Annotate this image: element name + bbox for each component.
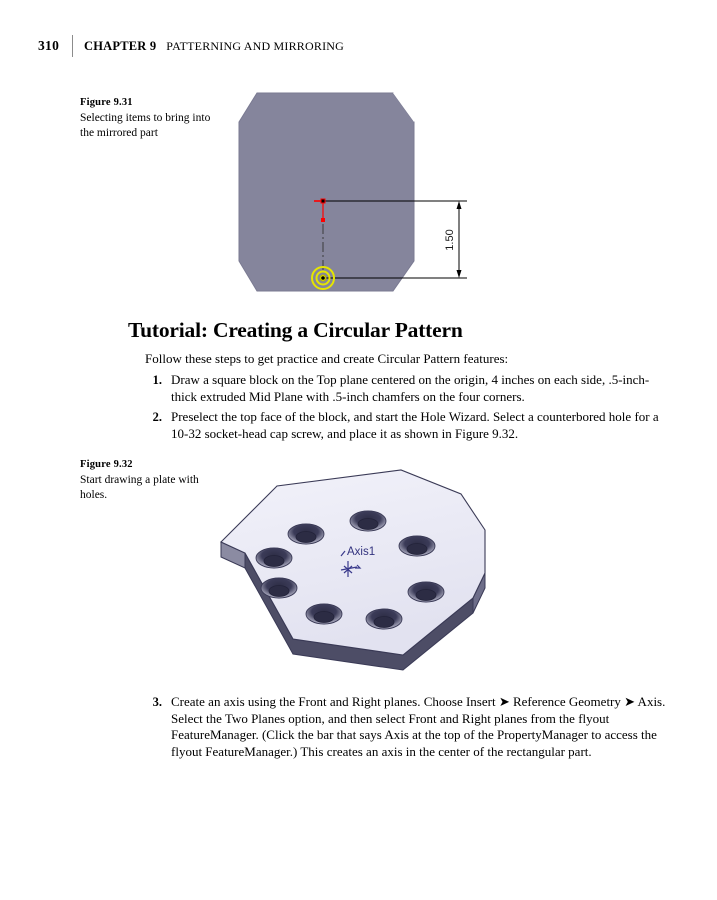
step-number-1: 1. xyxy=(145,372,171,405)
figure-9-32-label: Figure 9.32 xyxy=(80,458,212,472)
dimension-arrow-bottom xyxy=(457,270,462,278)
figure-9-31-image: 1.50 xyxy=(215,88,477,303)
step-number-2: 2. xyxy=(145,409,171,442)
figure-9-31-label: Figure 9.31 xyxy=(80,96,212,110)
chapter-title: PATTERNING AND MIRRORING xyxy=(166,39,344,54)
page-title: Tutorial: Creating a Circular Pattern xyxy=(128,318,463,343)
counterbored-hole-7 xyxy=(261,578,297,598)
figure-9-32-caption-text: Start drawing a plate with holes. xyxy=(80,473,212,502)
axis-label: Axis1 xyxy=(347,546,375,558)
running-head: 310 CHAPTER 9 PATTERNING AND MIRRORING xyxy=(38,38,344,60)
origin-point xyxy=(321,276,325,280)
figure-9-32-caption: Figure 9.32 Start drawing a plate with h… xyxy=(80,458,212,502)
sketch-endpoint-black xyxy=(322,200,325,203)
step-number-3: 3. xyxy=(145,694,171,760)
chapter-number: CHAPTER 9 xyxy=(84,39,156,54)
step-text-1: Draw a square block on the Top plane cen… xyxy=(171,372,672,405)
step-item-3: 3. Create an axis using the Front and Ri… xyxy=(145,694,672,760)
counterbored-hole-5 xyxy=(366,609,402,629)
dimension-arrow-top xyxy=(457,201,462,209)
header-divider xyxy=(72,35,73,57)
block-top-view-shape xyxy=(239,93,414,291)
counterbored-hole-8 xyxy=(256,548,292,568)
figure-9-32-image: Axis1 xyxy=(205,458,495,673)
figure-9-31-caption-text: Selecting items to bring into the mirror… xyxy=(80,111,212,140)
page-number: 310 xyxy=(38,38,72,54)
counterbored-hole-6 xyxy=(306,604,342,624)
counterbored-hole-3 xyxy=(399,536,435,556)
step-item-2: 2. Preselect the top face of the block, … xyxy=(145,409,672,442)
step-item-1: 1. Draw a square block on the Top plane … xyxy=(145,372,672,405)
step-text-2: Preselect the top face of the block, and… xyxy=(171,409,672,442)
counterbored-hole-2 xyxy=(350,511,386,531)
intro-paragraph: Follow these steps to get practice and c… xyxy=(145,351,665,367)
dimension-value: 1.50 xyxy=(444,229,456,250)
counterbored-hole-1 xyxy=(288,524,324,544)
step-text-3: Create an axis using the Front and Right… xyxy=(171,694,672,760)
figure-9-31-caption: Figure 9.31 Selecting items to bring int… xyxy=(80,96,212,140)
counterbored-hole-4 xyxy=(408,582,444,602)
